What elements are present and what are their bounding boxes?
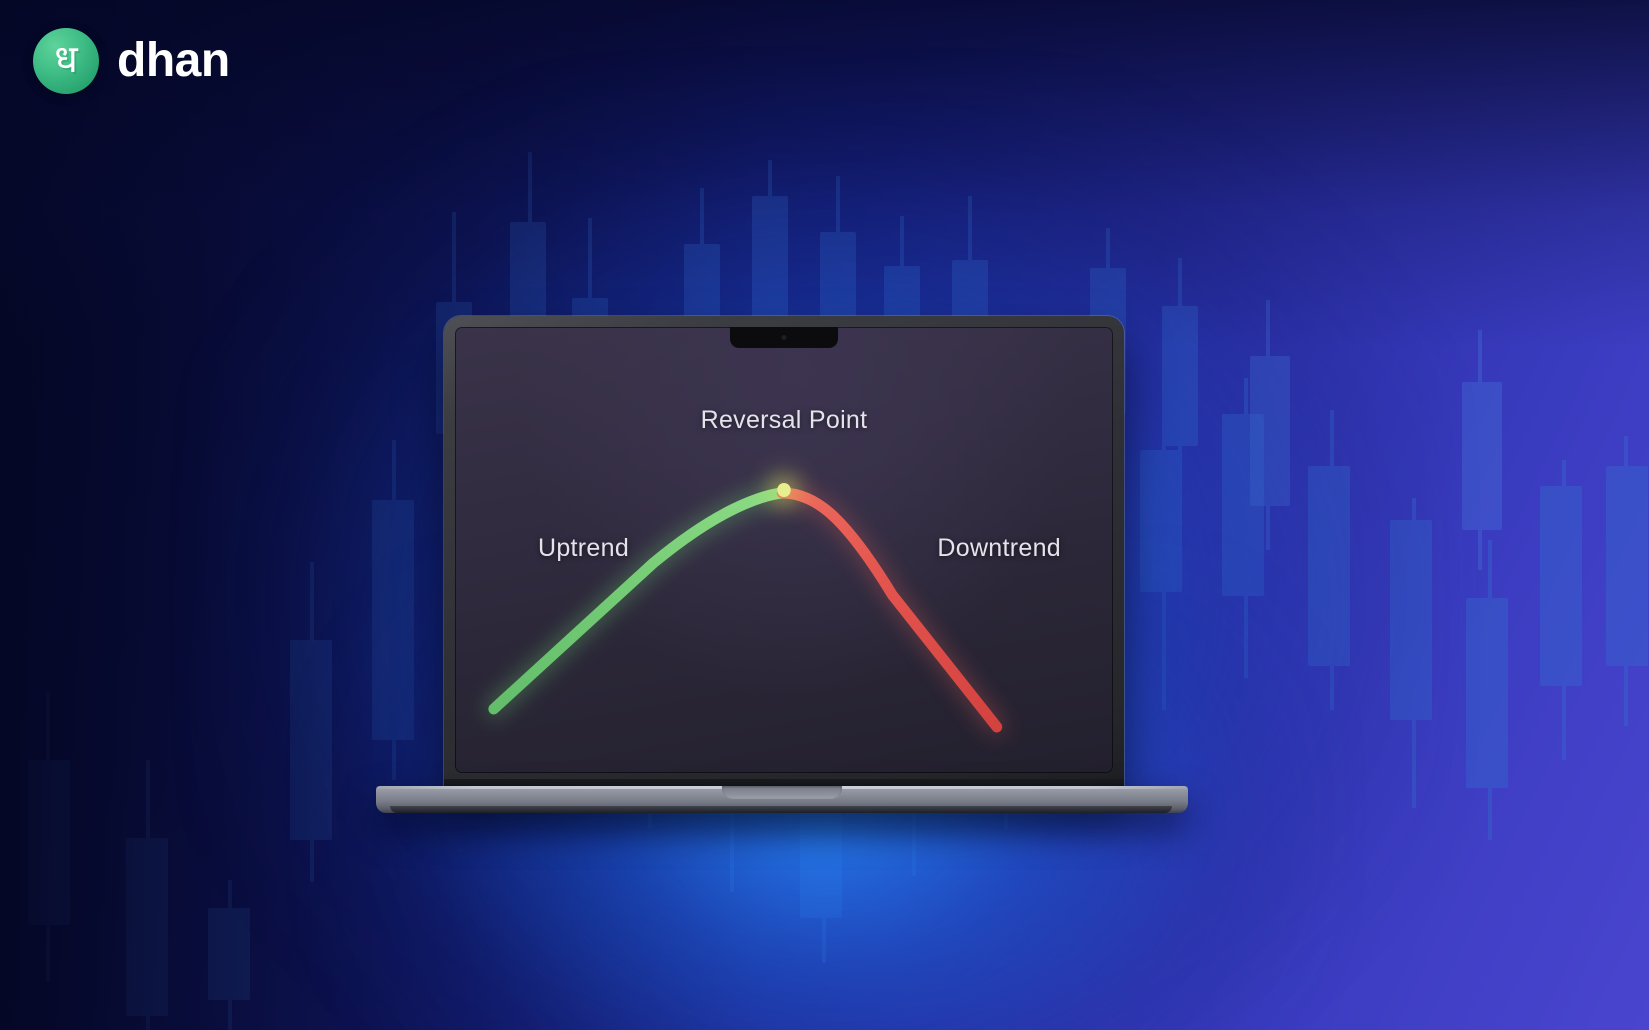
- downtrend-label: Downtrend: [937, 534, 1061, 563]
- camera-icon: [730, 327, 838, 348]
- downtrend-line: [782, 493, 997, 727]
- dhan-logo-icon: ध: [33, 28, 99, 94]
- devanagari-dha-glyph: ध: [54, 41, 77, 79]
- uptrend-label: Uptrend: [538, 534, 629, 563]
- brand-wordmark: dhan: [117, 37, 230, 85]
- uptrend-line: [494, 493, 782, 709]
- laptop-mockup: Reversal Point Uptrend Downtrend: [376, 316, 1188, 816]
- brand-logo[interactable]: ध dhan: [33, 28, 230, 94]
- laptop-base: [376, 786, 1188, 813]
- laptop-screen: Reversal Point Uptrend Downtrend: [455, 327, 1113, 773]
- scene: ध dhan: [0, 0, 1649, 1030]
- laptop-base-notch: [722, 786, 842, 799]
- reversal-point-marker: [777, 483, 791, 497]
- laptop-lid: Reversal Point Uptrend Downtrend: [444, 316, 1124, 789]
- reversal-point-label: Reversal Point: [701, 406, 868, 435]
- laptop-base-foot: [390, 806, 1172, 813]
